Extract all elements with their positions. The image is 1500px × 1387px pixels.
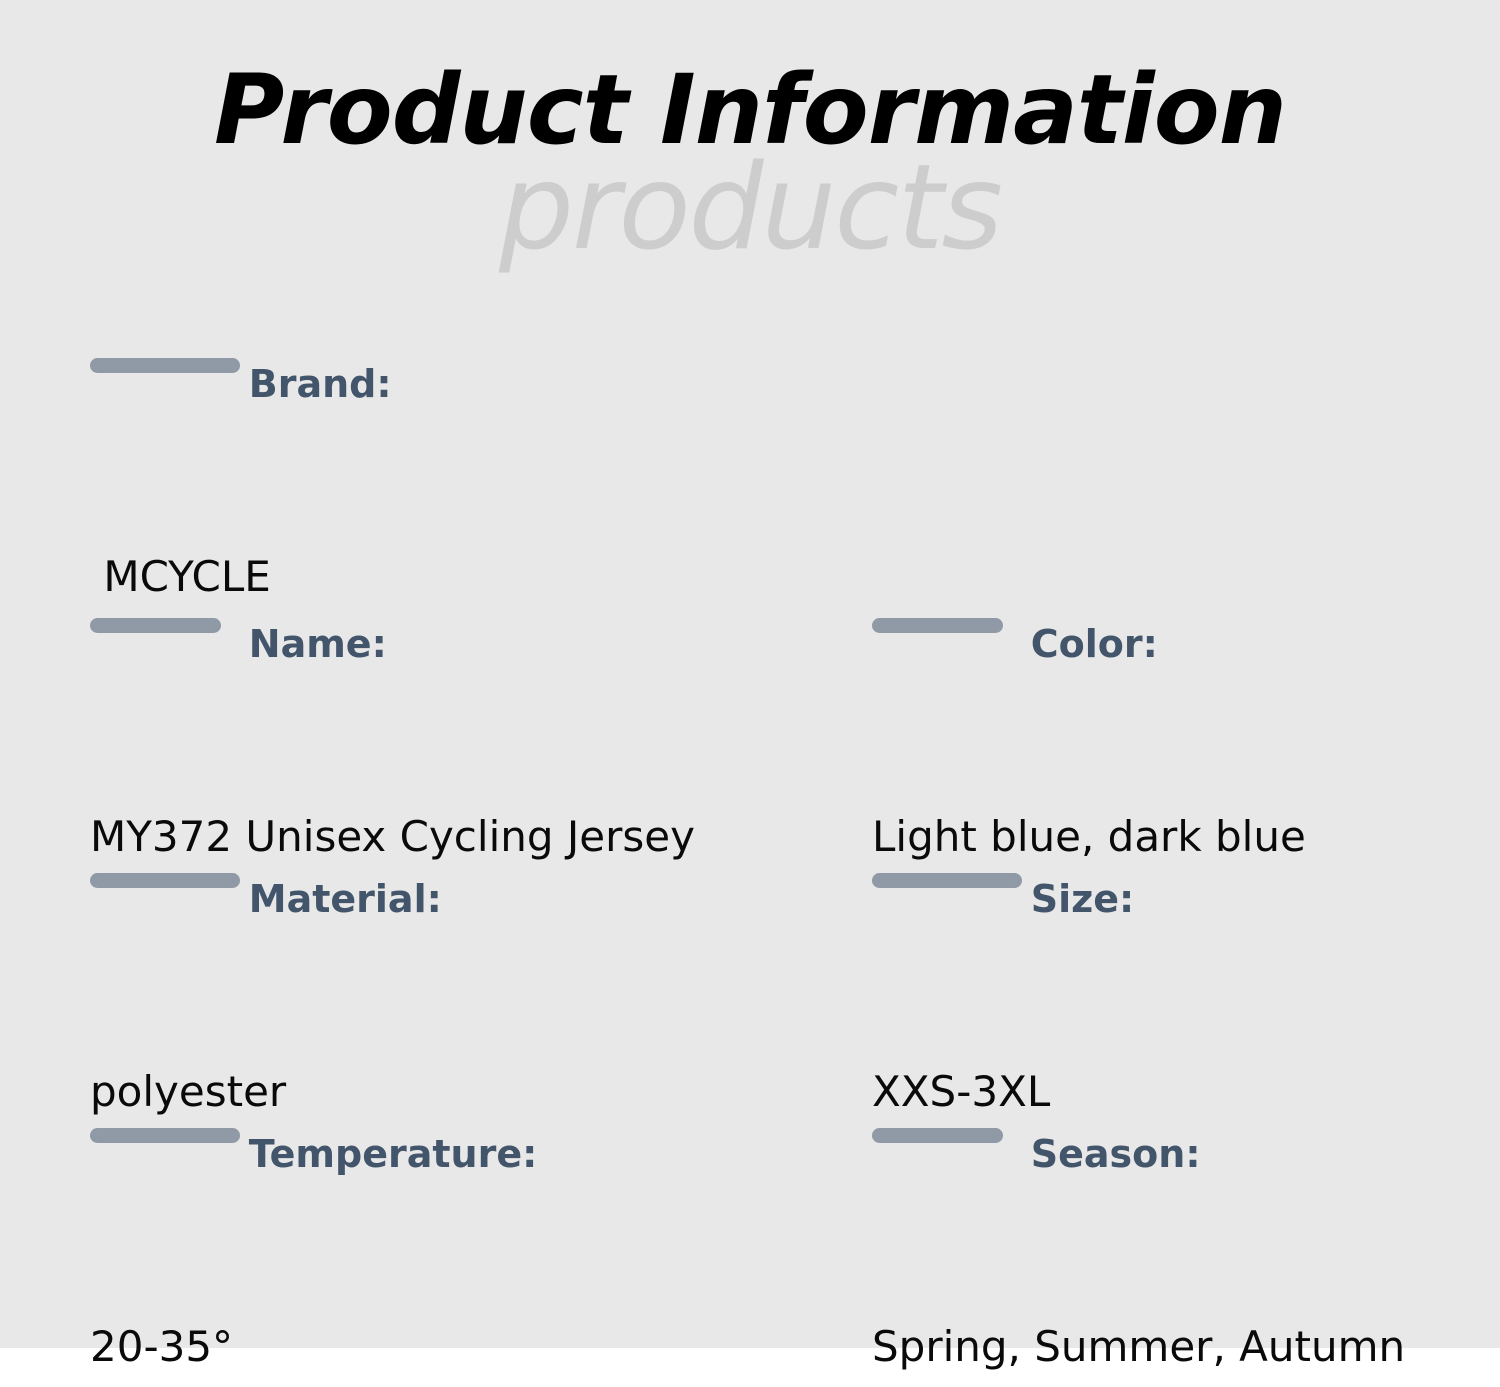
spec-label-season-text: Season: [1031,1132,1201,1176]
label-underline-bar [90,873,240,888]
spec-label-temperature-text: Temperature: [249,1132,538,1176]
spec-item-brand: Brand: MCYCLE [90,318,850,602]
spec-list: Brand: MCYCLE Name: MY372 Unisex Cycling… [0,318,1500,1343]
spec-label-brand: Brand: [90,318,850,516]
spec-label-color-text: Color: [1031,622,1158,666]
content-panel: products Product Information Brand: MCYC… [0,0,1500,1348]
spec-label-season: Season: [872,1088,1472,1286]
spec-label-color: Color: [872,578,1472,776]
spec-row: Name: MY372 Unisex Cycling Jersey Color:… [0,578,1500,833]
spec-row: Material: polyester Size: XXS-3XL [0,833,1500,1088]
label-underline-bar [872,618,1003,633]
spec-value-season: Spring, Summer, Autumn [872,1322,1472,1372]
spec-item-color: Color: Light blue, dark blue [872,578,1472,862]
spec-label-brand-text: Brand: [249,362,392,406]
spec-label-material: Material: [90,833,850,1031]
label-underline-bar [90,618,221,633]
spec-label-size: Size: [872,833,1472,1031]
spec-label-size-text: Size: [1031,877,1148,921]
spec-item-season: Season: Spring, Summer, Autumn [872,1088,1472,1372]
spec-label-temperature: Temperature: [90,1088,850,1286]
spec-label-name: Name: [90,578,850,776]
spec-label-material-text: Material: [249,877,442,921]
spec-value-temperature: 20-35° [90,1322,850,1372]
spec-label-name-text: Name: [249,622,387,666]
page-header: products Product Information [0,0,1500,310]
label-underline-bar [90,1128,240,1143]
spec-item-material: Material: polyester [90,833,850,1117]
product-information-page: products Product Information Brand: MCYC… [0,0,1500,1387]
label-underline-bar [872,1128,1003,1143]
label-underline-bar [90,358,240,373]
spec-item-name: Name: MY372 Unisex Cycling Jersey [90,578,850,862]
spec-row: Temperature: 20-35° Season: Spring, Summ… [0,1088,1500,1343]
page-title: Product Information [0,62,1500,158]
spec-item-size: Size: XXS-3XL [872,833,1472,1117]
spec-item-temperature: Temperature: 20-35° [90,1088,850,1372]
spec-row: Brand: MCYCLE [0,318,1500,578]
label-underline-bar [872,873,1022,888]
